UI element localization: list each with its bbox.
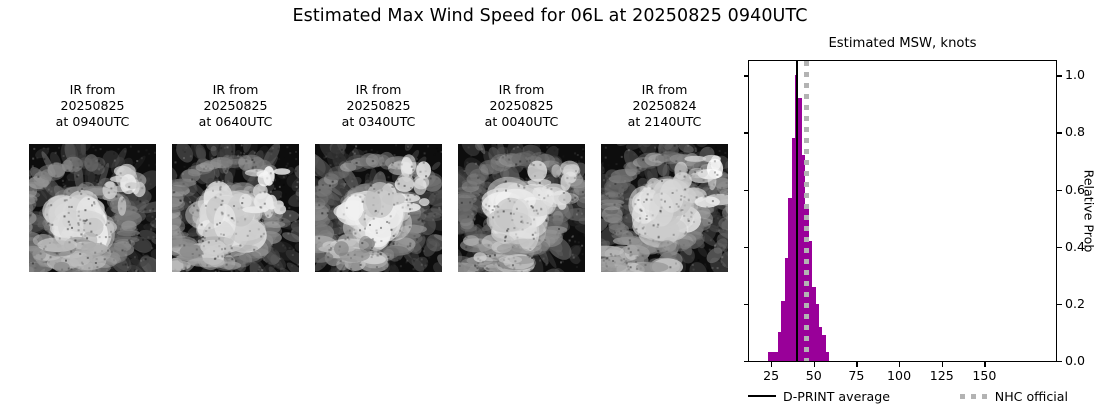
legend-solid-line-icon [748, 395, 776, 397]
panel-caption: IR from 20250825 at 0940UTC [29, 82, 156, 130]
y-axis-tick-right [1057, 304, 1062, 305]
chart-plot-area [749, 61, 1056, 361]
y-axis-tick-right [1057, 361, 1062, 362]
panel-ir-0640utc: IR from 20250825 at 0640UTC [172, 82, 299, 130]
x-axis-tick [771, 362, 772, 367]
page-title: Estimated Max Wind Speed for 06L at 2025… [0, 6, 1100, 26]
y-axis-tick-left [744, 132, 749, 133]
panel-ir-0340utc: IR from 20250825 at 0340UTC [315, 82, 442, 130]
nhc-official-line [804, 61, 809, 361]
legend-dotted-line-icon [960, 394, 988, 399]
y-axis-tick-left [744, 304, 749, 305]
y-axis-tick-left [744, 361, 749, 362]
histogram-bar [826, 352, 829, 361]
panel-ir-0040utc: IR from 20250825 at 0040UTC [458, 82, 585, 130]
ir-satellite-image [172, 144, 299, 272]
y-axis-tick-label: 1.0 [1065, 67, 1085, 82]
legend-label: NHC official [995, 389, 1068, 404]
panel-caption: IR from 20250825 at 0640UTC [172, 82, 299, 130]
y-axis-tick-right [1057, 75, 1062, 76]
y-axis-label: Relative Prob [1082, 170, 1097, 253]
legend-label: D-PRINT average [783, 389, 890, 404]
satellite-panel-strip: IR from 20250825 at 0940UTCIR from 20250… [29, 82, 739, 282]
y-axis-tick-label: 0.8 [1065, 124, 1085, 139]
ir-satellite-image [315, 144, 442, 272]
x-axis-tick [984, 362, 985, 367]
x-axis-tick-label: 150 [954, 368, 1014, 383]
y-axis-tick-right [1057, 190, 1062, 191]
panel-caption: IR from 20250824 at 2140UTC [601, 82, 728, 130]
legend-entry: D-PRINT average [748, 389, 890, 404]
y-axis-tick-label: 0.0 [1065, 353, 1085, 368]
panel-ir-2140utc: IR from 20250824 at 2140UTC [601, 82, 728, 130]
x-axis-tick [856, 362, 857, 367]
y-axis-tick-right [1057, 132, 1062, 133]
y-axis-tick-left [744, 247, 749, 248]
d-print-average-line [796, 61, 798, 361]
x-axis-tick [899, 362, 900, 367]
chart-title: Estimated MSW, knots [748, 36, 1057, 51]
ir-satellite-image [458, 144, 585, 272]
y-axis-tick-right [1057, 247, 1062, 248]
chart-legend: D-PRINT averageNHC official [748, 385, 1068, 407]
ir-satellite-image [29, 144, 156, 272]
y-axis-tick-label: 0.2 [1065, 296, 1085, 311]
figure-root: Estimated Max Wind Speed for 06L at 2025… [0, 0, 1100, 409]
panel-caption: IR from 20250825 at 0340UTC [315, 82, 442, 130]
ir-satellite-image [601, 144, 728, 272]
legend-entry: NHC official [960, 389, 1068, 404]
x-axis-tick [942, 362, 943, 367]
x-axis-tick [814, 362, 815, 367]
y-axis-tick-left [744, 190, 749, 191]
panel-ir-0940utc: IR from 20250825 at 0940UTC [29, 82, 156, 130]
msw-histogram-chart: Estimated MSW, knots 2550751001251500.00… [748, 60, 1057, 362]
y-axis-tick-left [744, 75, 749, 76]
panel-caption: IR from 20250825 at 0040UTC [458, 82, 585, 130]
